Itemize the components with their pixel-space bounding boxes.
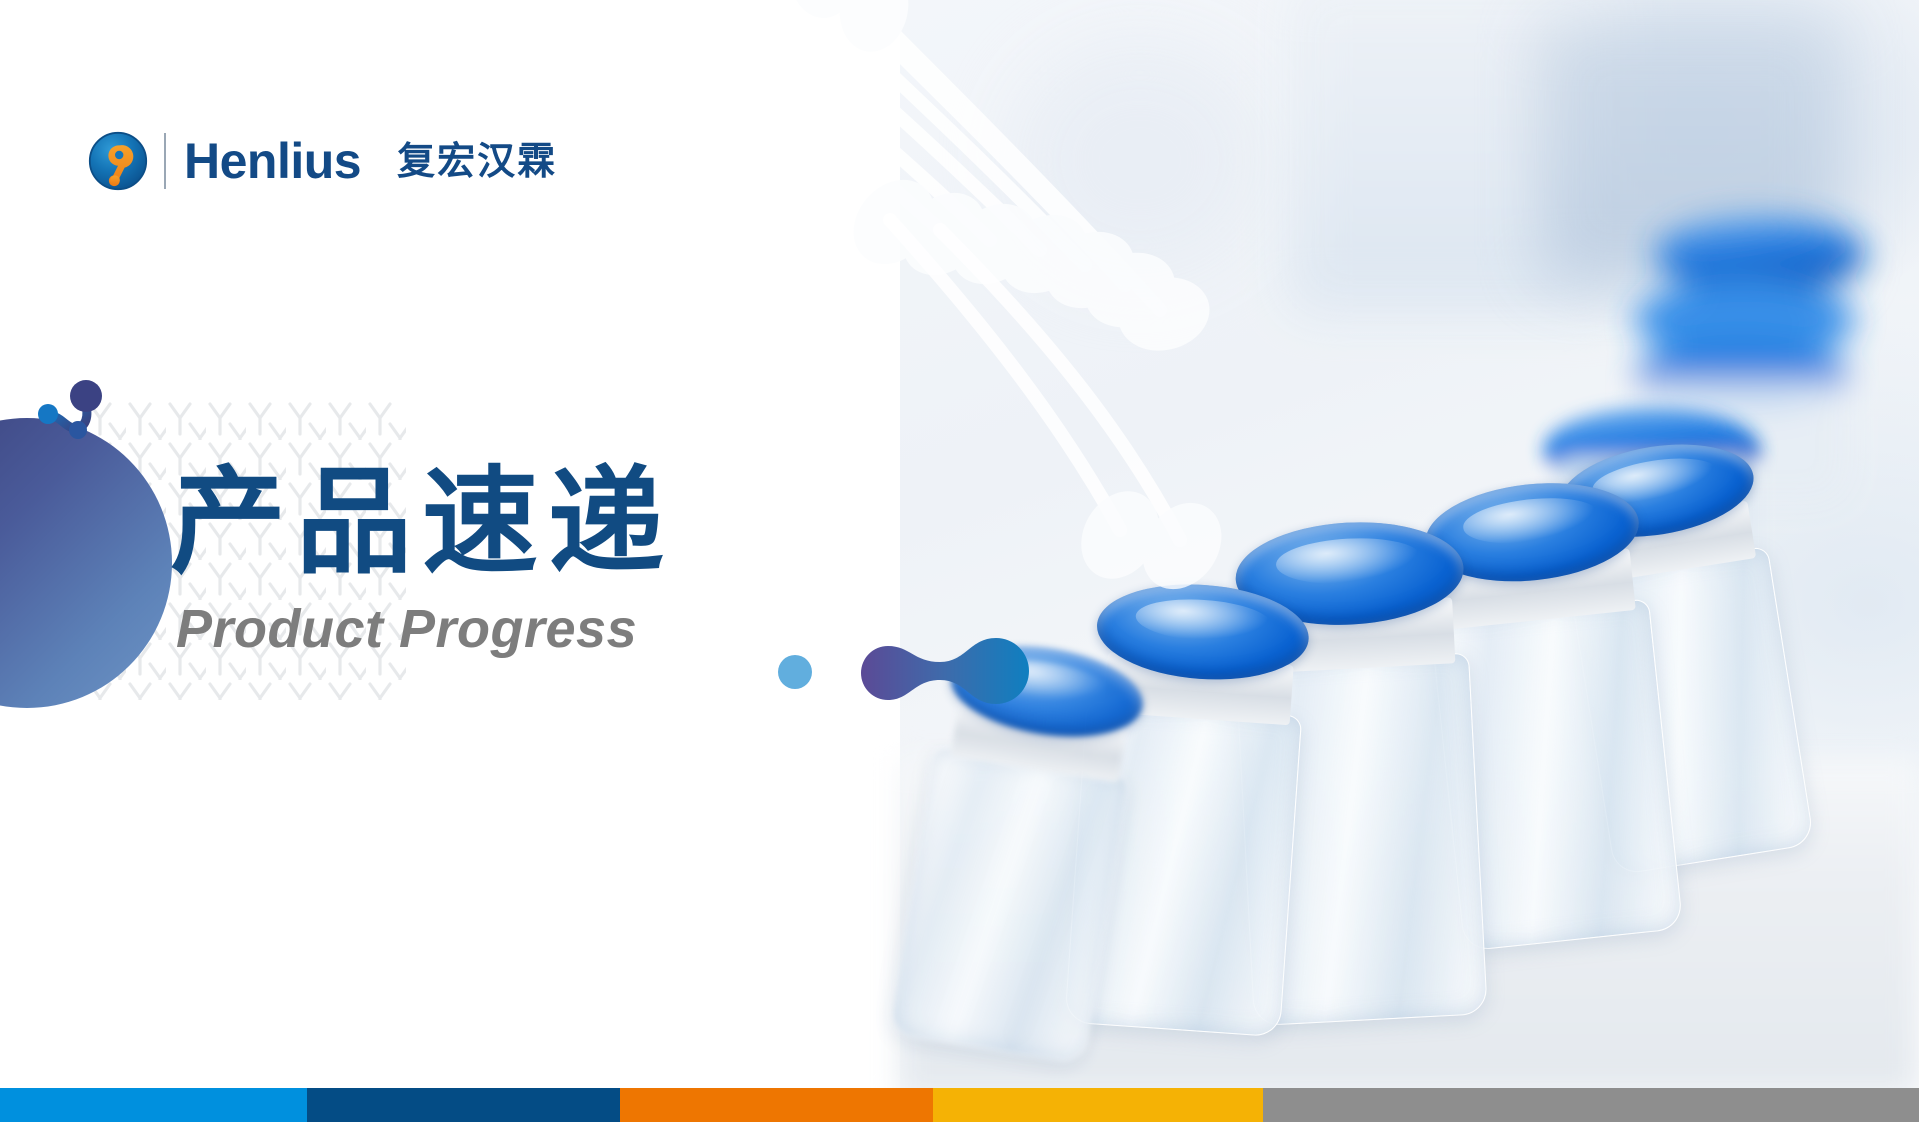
logo-chinese-name: 复宏汉霖 bbox=[397, 142, 557, 180]
presentation-slide: Henlius 复宏汉霖 产品速递 Product Progress bbox=[0, 0, 1919, 1122]
bar-segment-dark-blue bbox=[307, 1088, 620, 1122]
bar-segment-amber bbox=[933, 1088, 1263, 1122]
molecule-accent-small bbox=[34, 378, 114, 448]
logo-divider bbox=[164, 133, 166, 189]
brand-logo[interactable]: Henlius 复宏汉霖 bbox=[88, 129, 557, 193]
bar-segment-light-blue bbox=[0, 1088, 307, 1122]
accent-dot-light-blue bbox=[778, 655, 812, 689]
logo-wordmark: Henlius bbox=[184, 136, 361, 186]
molecule-icon bbox=[34, 378, 114, 448]
henlius-logo-mark-icon bbox=[88, 131, 148, 191]
title-block: 产品速递 Product Progress bbox=[170, 462, 930, 660]
dumbbell-molecule-icon bbox=[852, 636, 1038, 710]
page-title-chinese: 产品速递 bbox=[170, 462, 930, 584]
molecule-accent-dumbbell bbox=[852, 636, 1038, 710]
bar-segment-orange bbox=[620, 1088, 933, 1122]
bar-segment-gray bbox=[1263, 1088, 1919, 1122]
page-title-english: Product Progress bbox=[176, 598, 930, 660]
bottom-color-bar bbox=[0, 1088, 1919, 1122]
